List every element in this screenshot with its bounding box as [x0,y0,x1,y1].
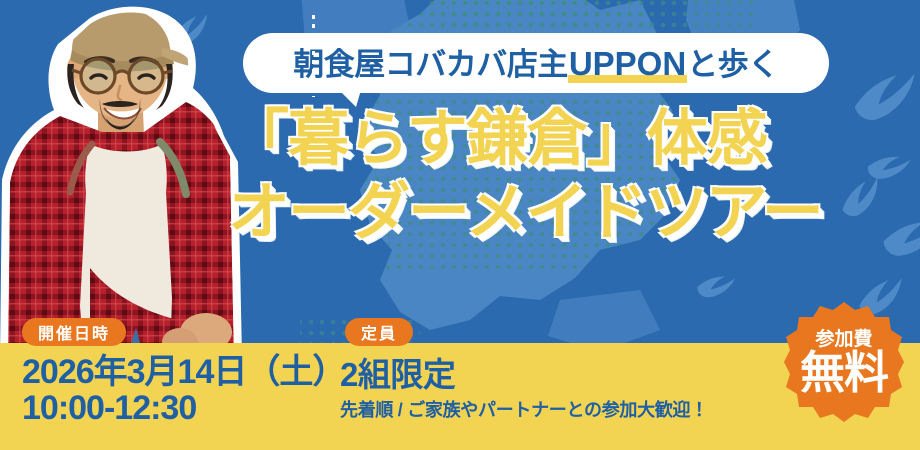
capacity-note: 先着順 / ご家族やパートナーとの参加大歓迎！ [340,400,708,422]
subtitle-pre: 朝食屋コバカバ店主 [293,49,568,80]
event-date: 2026年3月14日（土） [22,354,345,390]
subtitle-text: 朝食屋コバカバ店主UPPONと歩く [293,47,778,80]
date-pill-label: 開催日時 [22,318,126,346]
capacity-pill-label: 定員 [345,318,413,346]
event-banner: 朝食屋コバカバ店主UPPONと歩く 「暮らす鎌倉」体感 オーダーメイドツアー 開… [0,0,920,450]
subtitle-bubble: 朝食屋コバカバ店主UPPONと歩く [243,33,829,93]
fee-value: 無料 [800,350,888,395]
host-photo-illustration [0,6,246,358]
capacity-value: 2組限定 [340,356,708,394]
title-line-2: オーダーメイドツアー [228,178,908,247]
capacity-info-group: 2組限定 先着順 / ご家族やパートナーとの参加大歓迎！ [340,354,708,422]
fee-label: 参加費 [815,330,872,349]
title-line-1: 「暮らす鎌倉」体感 [228,104,908,172]
page-title: 「暮らす鎌倉」体感 オーダーメイドツアー [228,104,908,248]
subtitle-highlight-text: UPPON [569,45,686,82]
date-info-group: 2026年3月14日（土） 10:00-12:30 [22,354,345,426]
subtitle-post: と歩く [687,49,779,80]
subtitle-highlight: UPPON [568,47,687,80]
host-photo [0,6,246,358]
fee-badge-content: 参加費 無料 [782,300,906,424]
event-time: 10:00-12:30 [22,390,345,426]
info-divider [312,15,315,97]
fee-badge: 参加費 無料 [782,300,906,424]
